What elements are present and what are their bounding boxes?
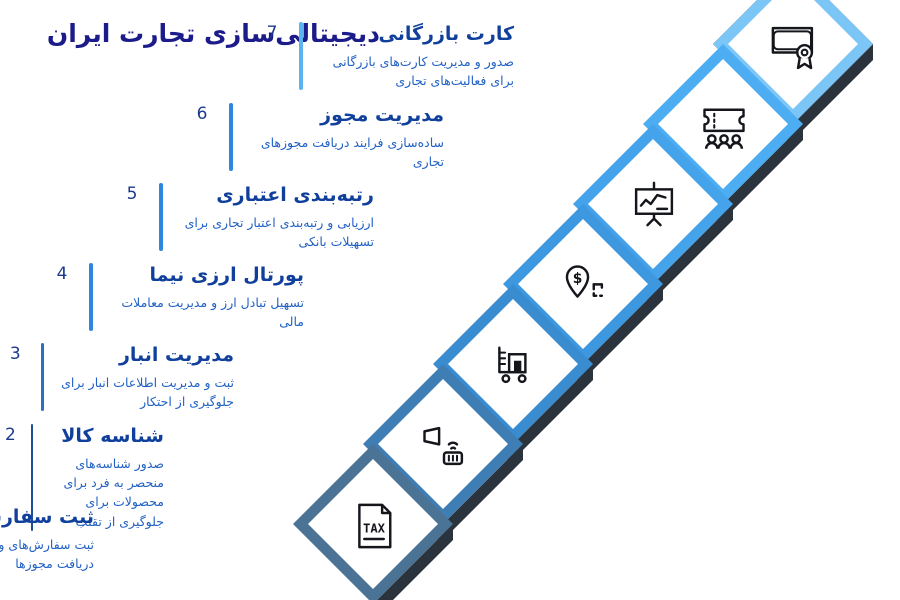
infographic-canvas: دیجیتالی‌سازی تجارت ایران TAX [0, 0, 900, 600]
step-description-5: ارزیابی و رتبه‌بندی اعتبار تجاری برای تس… [169, 213, 374, 252]
step-description-4: تسهیل تبادل ارز و مدیریت معاملات مالی [99, 293, 304, 332]
step-number-2: 2 [0, 424, 21, 444]
step-accent-bar-3 [41, 343, 45, 411]
step-accent-bar-4 [89, 263, 93, 331]
step-title-7: کارت بازرگانی [309, 22, 514, 48]
step-title-1: ثبت سفارش کالا [0, 505, 94, 531]
step-number-6: 6 [185, 103, 219, 123]
step-number-7: 7 [255, 22, 289, 42]
step-number-4: 4 [45, 263, 79, 283]
step-title-2: شناسه کالا [39, 424, 164, 450]
step-title-5: رتبه‌بندی اعتباری [169, 183, 374, 209]
step-accent-bar-5 [159, 183, 163, 251]
step-text-3: مدیریت انبار ثبت و مدیریت اطلاعات انبار … [0, 343, 234, 411]
step-text-5: رتبه‌بندی اعتباری ارزیابی و رتبه‌بندی اع… [115, 183, 374, 251]
step-accent-bar-7 [299, 22, 303, 90]
step-number-3: 3 [0, 343, 31, 363]
step-description-7: صدور و مدیریت کارت‌های بازرگانی برای فعا… [309, 52, 514, 91]
step-title-4: پورتال ارزی نیما [99, 263, 304, 289]
step-text-1: ثبت سفارش کالا ثبت سفارش‌های واردات کالا… [0, 505, 94, 573]
step-description-6: ساده‌سازی فرایند دریافت مجوزهای تجاری [239, 133, 444, 172]
step-description-1: ثبت سفارش‌های واردات کالا و دریافت مجوزه… [0, 535, 94, 574]
step-accent-bar-6 [229, 103, 233, 171]
step-text-6: مدیریت مجوز ساده‌سازی فرایند دریافت مجوز… [185, 103, 444, 171]
step-title-3: مدیریت انبار [50, 343, 234, 369]
step-text-7: کارت بازرگانی صدور و مدیریت کارت‌های باز… [255, 22, 514, 90]
step-text-4: پورتال ارزی نیما تسهیل تبادل ارز و مدیری… [45, 263, 304, 331]
step-title-6: مدیریت مجوز [239, 103, 444, 129]
step-description-3: ثبت و مدیریت اطلاعات انبار برای جلوگیری … [50, 373, 234, 412]
step-number-5: 5 [115, 183, 149, 203]
